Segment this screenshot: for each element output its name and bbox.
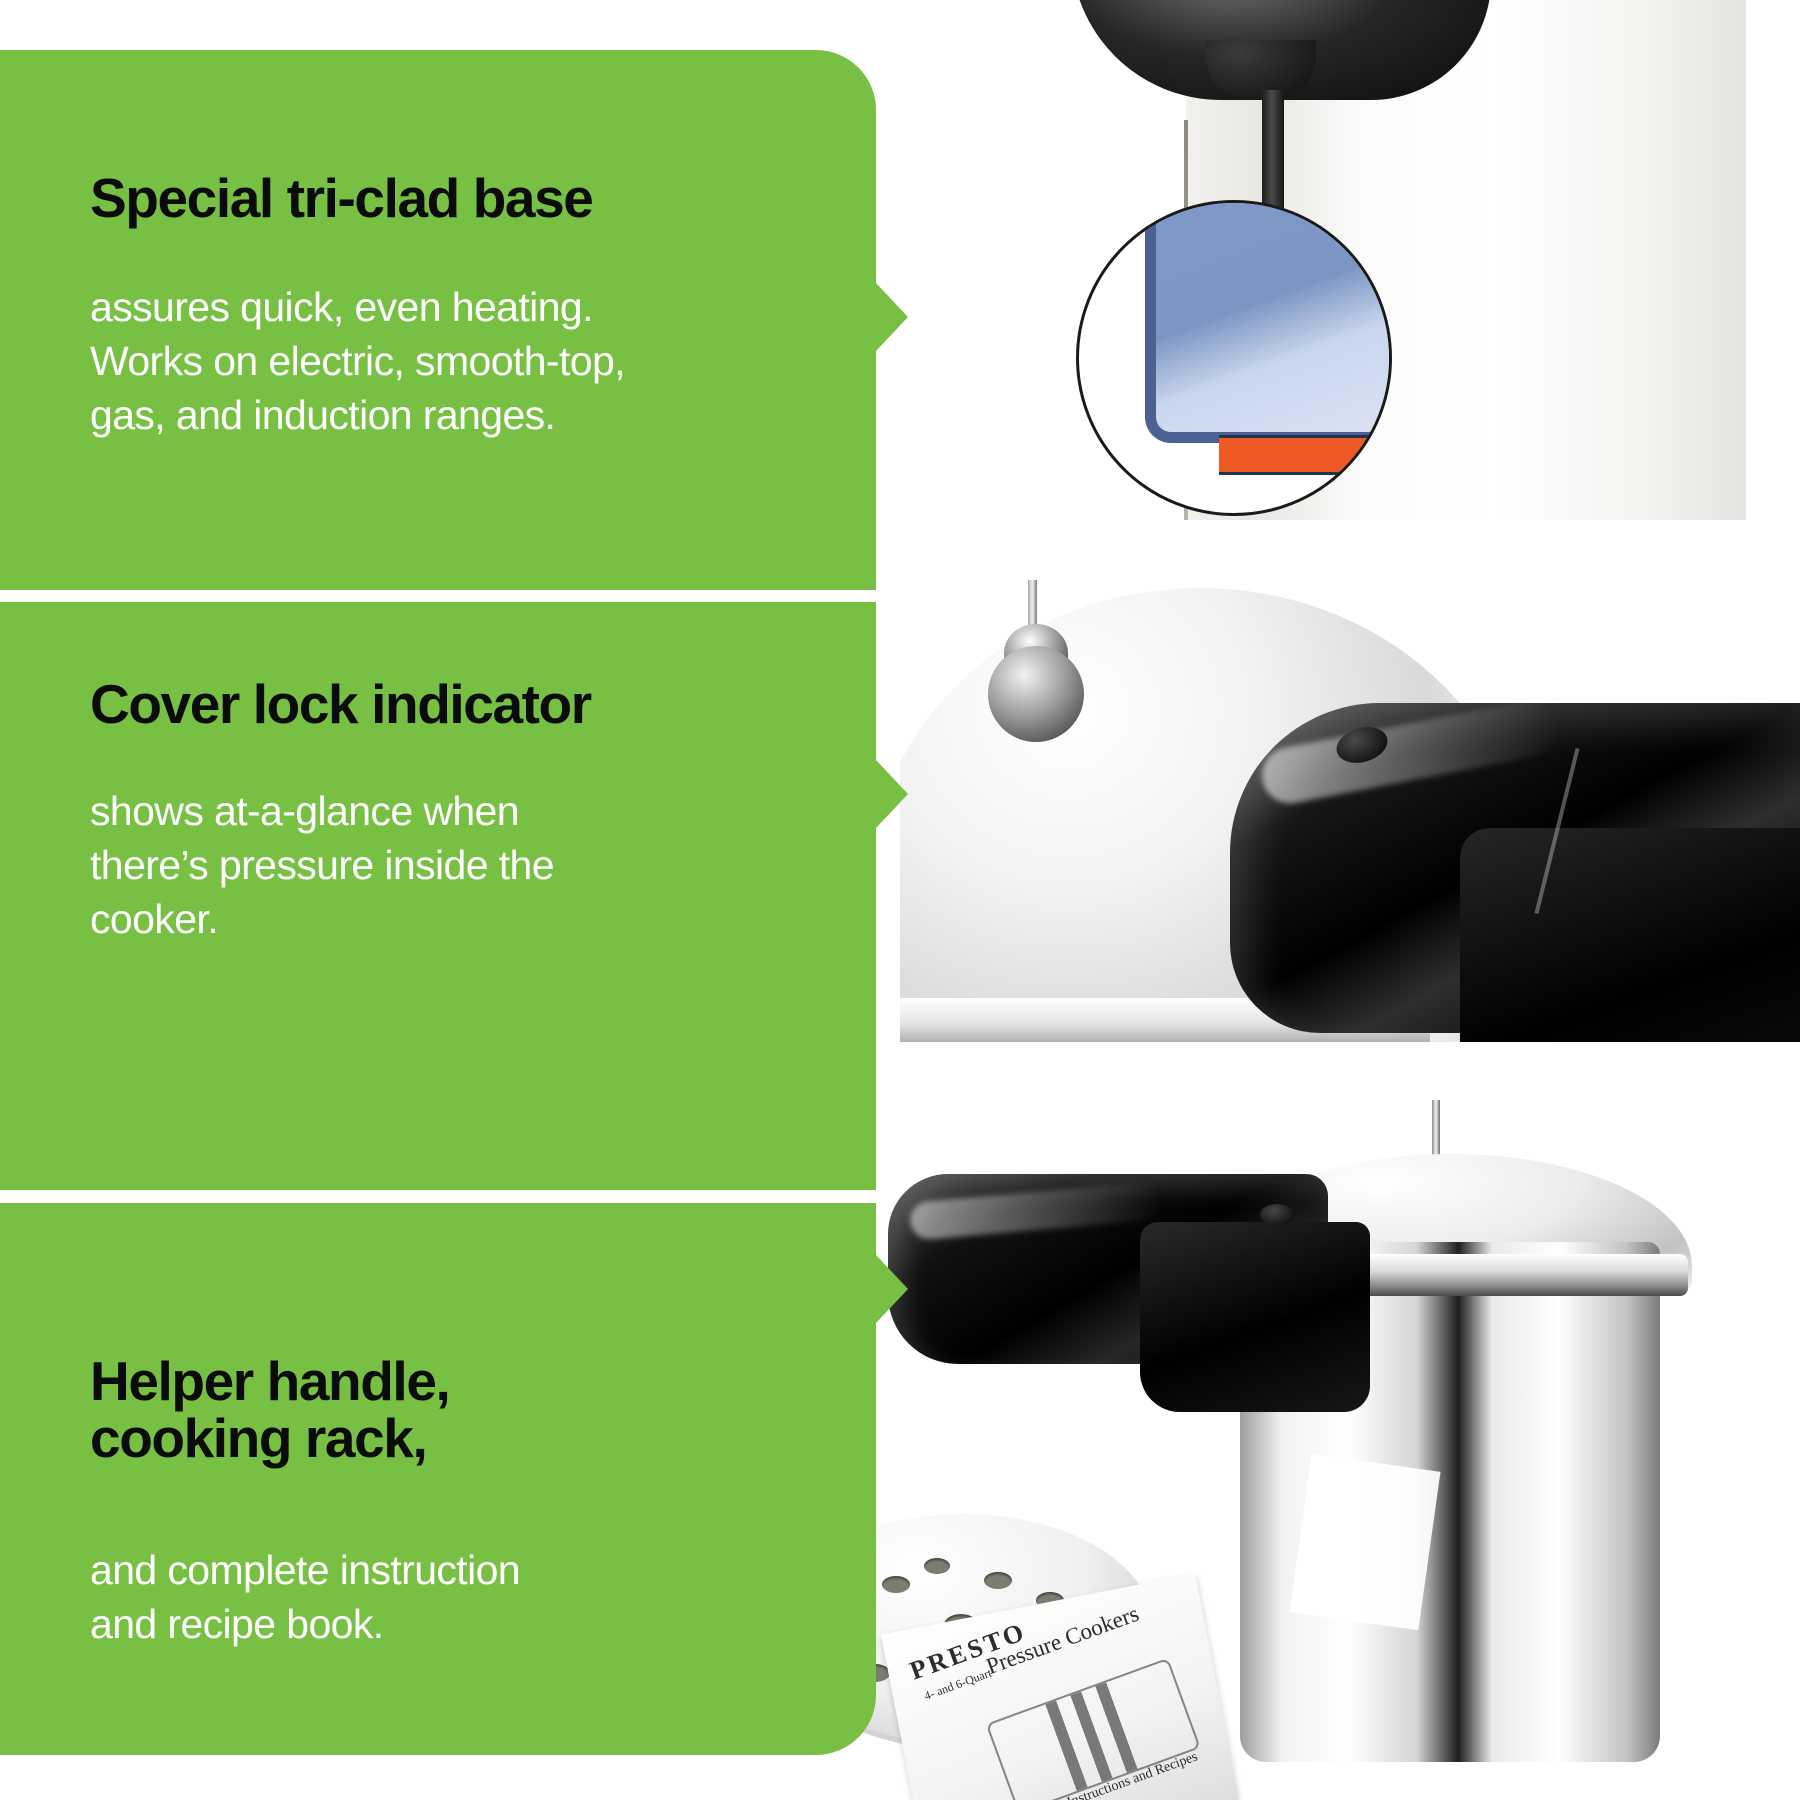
cover-lock-indicator-photo xyxy=(900,528,1800,1048)
pressure-regulator xyxy=(988,646,1084,742)
tri-clad-base-photo xyxy=(876,0,1800,520)
product-feature-infographic: PRESTO 4- and 6-Quart Pressure Cookers I… xyxy=(0,0,1800,1800)
feature-title: Helper handle, cooking rack, xyxy=(90,1353,449,1466)
feature-body: shows at-a-glance when there’s pressure … xyxy=(90,784,554,946)
instruction-slip xyxy=(1289,1454,1440,1631)
handle-indicator-hole xyxy=(1260,1204,1294,1226)
aluminum-core-layer-diagram xyxy=(1219,435,1392,475)
callout-pointer-icon xyxy=(876,283,908,351)
magnifier-circle-icon xyxy=(1076,200,1392,516)
feature-panel-helper-handle: Helper handle, cooking rack, and complet… xyxy=(0,1203,876,1755)
accessories-photo: PRESTO 4- and 6-Quart Pressure Cookers I… xyxy=(760,1042,1800,1800)
feature-body: assures quick, even heating. Works on el… xyxy=(90,280,625,442)
book-cover-illustration xyxy=(986,1658,1201,1800)
black-helper-handle-lower xyxy=(1140,1222,1370,1412)
feature-title: Cover lock indicator xyxy=(90,676,591,733)
feature-title: Special tri-clad base xyxy=(90,170,593,227)
feature-panel-cover-lock-indicator: Cover lock indicator shows at-a-glance w… xyxy=(0,602,876,1190)
callout-pointer-icon xyxy=(876,1255,908,1323)
feature-panel-tri-clad-base: Special tri-clad base assures quick, eve… xyxy=(0,50,876,590)
feature-body: and complete instruction and recipe book… xyxy=(90,1543,520,1651)
stainless-layer-diagram xyxy=(1145,200,1392,443)
callout-pointer-icon xyxy=(876,760,908,828)
black-cover-handle-lower xyxy=(1460,828,1800,1048)
